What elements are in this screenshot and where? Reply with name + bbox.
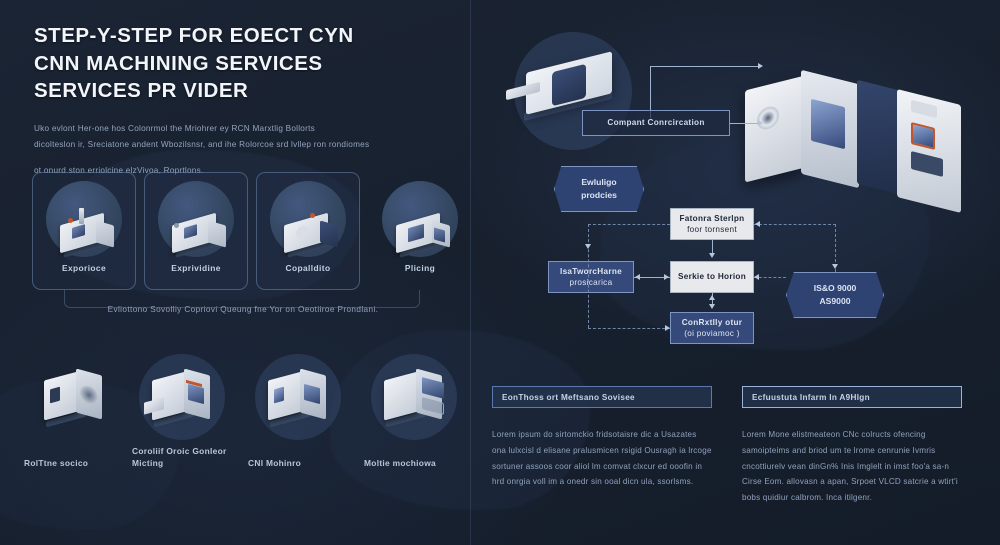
intro-line-1: Uko evlont Her-one hos Colonrmol the Mri… — [34, 121, 464, 137]
flow-arrowhead-factors-down — [709, 253, 715, 258]
flow-arrowhead-iso-to-service — [754, 274, 759, 280]
spindle-machine-icon — [276, 207, 340, 255]
flow-node-label: Serkie to Horion — [678, 271, 746, 282]
intro-paragraph: Uko evlont Her-one hos Colonrmol the Mri… — [34, 121, 464, 179]
criteria-card-label: Exprividine — [145, 263, 247, 273]
enclosure-machine-icon — [388, 207, 452, 255]
page-title: STEP-Y-STEP FOR EOECT CYN CNN MACHINING … — [34, 22, 464, 105]
criteria-card-capabilities[interactable]: Copalldito — [256, 172, 360, 290]
criteria-card-label: Plicing — [369, 263, 471, 273]
detail-panel-header[interactable]: EonThoss ort Meftsano Sovisee — [492, 386, 712, 408]
machine-cell-label: RolTtne socico — [18, 458, 130, 470]
flow-node-component-consideration[interactable]: Compant Conrcircation — [582, 110, 730, 136]
flow-arrowhead-service-down — [709, 304, 715, 309]
flow-line-component-right — [730, 123, 760, 124]
page-title-line-3: SERVICES PR VIDER — [34, 77, 464, 105]
flow-arrowhead-dashed-left — [585, 244, 591, 249]
flow-arrowhead-dashed-bottom — [665, 325, 670, 331]
detail-panels: EonThoss ort Meftsano Sovisee Lorem ipsu… — [492, 386, 962, 536]
intro-line-2: dicolteslon ir, Sreciatone andent Wbozil… — [34, 137, 464, 153]
flow-arrowhead-component — [758, 120, 763, 126]
criteria-card-row: Exporioce Exprividine Copalldito — [18, 172, 466, 300]
flow-dashed-bottom-in — [588, 328, 670, 329]
machine-cell-label: CNl Mohinro — [242, 458, 354, 470]
cnc-enclosure-icon — [258, 366, 338, 428]
detail-panel-body: Lorem ipsum do sirtomckio fridsotaisre d… — [492, 427, 712, 490]
flow-node-evaluate-providers[interactable]: Ewluligo prodcies — [554, 166, 644, 212]
flow-node-factors-section[interactable]: Fatonra Sterlpn foor tornsent — [670, 208, 754, 240]
control-console-icon — [374, 366, 454, 428]
flow-node-label-line1: ConRxtlly otur — [682, 317, 743, 328]
flow-dashed-left-loop — [588, 224, 670, 225]
flow-arrowhead-to-service — [664, 274, 669, 280]
flow-node-label-line2: AS9000 — [819, 295, 850, 308]
flow-node-label-line2: foor tornsent — [687, 224, 737, 235]
flow-line-factors-to-service — [712, 240, 713, 254]
machine-cell-label: Coroliif Oroic Gonleor Micting — [126, 446, 238, 470]
criteria-card-label: Copalldito — [257, 263, 359, 273]
detail-panel-header-label: Ecfuustuta Infarm In A9Hlgn — [752, 393, 870, 402]
flow-dashed-left-loop-down — [588, 224, 589, 328]
machine-cell-cnc-machine[interactable]: CNl Mohinro — [242, 352, 354, 472]
detail-panel-header[interactable]: Ecfuustuta Infarm In A9Hlgn — [742, 386, 962, 408]
detail-panel-machine-services: EonThoss ort Meftsano Sovisee Lorem ipsu… — [492, 386, 712, 490]
criteria-card-label: Exporioce — [33, 263, 135, 273]
criteria-card-experience[interactable]: Exporioce — [32, 172, 136, 290]
flow-node-label-line1: IS&O 9000 — [814, 282, 857, 295]
flow-node-label-line1: Fatonra Sterlpn — [679, 213, 744, 224]
flow-node-service-horizon[interactable]: Serkie to Horion — [670, 261, 754, 293]
machine-type-row: RolTtne socico Coroliif Oroic Gonleor Mi… — [18, 352, 470, 472]
infographic-canvas: STEP-Y-STEP FOR EOECT CYN CNN MACHINING … — [0, 0, 1000, 545]
detail-panel-header-label: EonThoss ort Meftsano Sovisee — [502, 393, 635, 402]
criteria-card-pricing[interactable]: Plicing — [368, 172, 472, 290]
flow-node-maintenance-providers[interactable]: lsaTworcHarne prosicarica — [548, 261, 634, 293]
flow-line-top — [650, 66, 760, 67]
flow-node-label-line2: (oi poviamoc ) — [684, 328, 740, 339]
criteria-card-expertise[interactable]: Exprividine — [144, 172, 248, 290]
flow-node-label-line1: Ewluligo — [581, 176, 616, 189]
flow-arrowhead-to-maintenance — [635, 274, 640, 280]
machine-cell-multi-machines[interactable]: Moltie mochiowa — [358, 352, 470, 472]
turning-center-icon — [142, 366, 222, 428]
milling-machine-icon — [34, 366, 114, 428]
flow-dashed-right-top — [754, 224, 836, 225]
criteria-row-caption: Evliottono Sovolliy Copriovi Queung fne … — [18, 305, 468, 314]
machine-cell-label: Moltie mochiowa — [358, 458, 470, 470]
flow-arrowhead-certify-up — [709, 295, 715, 300]
process-flow-diagram: Compant Conrcircation Ewluligo prodcies … — [500, 50, 990, 350]
flow-node-label-line2: prodcies — [581, 189, 617, 202]
machine-cell-quality-control[interactable]: Coroliif Oroic Gonleor Micting — [126, 352, 238, 472]
flow-node-label-line2: prosicarica — [570, 277, 613, 288]
header-block: STEP-Y-STEP FOR EOECT CYN CNN MACHINING … — [34, 22, 464, 179]
flow-arrowhead-right-top — [755, 221, 760, 227]
flow-node-label: Compant Conrcircation — [607, 117, 704, 128]
flow-arrowhead-right-down — [832, 264, 838, 269]
cnc-machine-icon — [52, 207, 116, 255]
flow-node-label-line1: lsaTworcHarne — [560, 266, 622, 277]
flow-node-iso-certification[interactable]: IS&O 9000 AS9000 — [786, 272, 884, 318]
detail-panel-body: Lorem Mone elistmeateon CNc colructs ofe… — [742, 427, 962, 506]
flow-node-certify-our[interactable]: ConRxtlly otur (oi poviamoc ) — [670, 312, 754, 344]
page-title-line-1: STEP-Y-STEP FOR EOECT CYN — [34, 22, 464, 50]
page-title-line-2: CNN MACHINING SERVICES — [34, 50, 464, 78]
flow-arrowhead-top — [758, 63, 763, 69]
machine-cell-realtime-service[interactable]: RolTtne socico — [18, 352, 130, 472]
detail-panel-exclusive-info: Ecfuustuta Infarm In A9Hlgn Lorem Mone e… — [742, 386, 962, 506]
lathe-machine-icon — [164, 207, 228, 255]
